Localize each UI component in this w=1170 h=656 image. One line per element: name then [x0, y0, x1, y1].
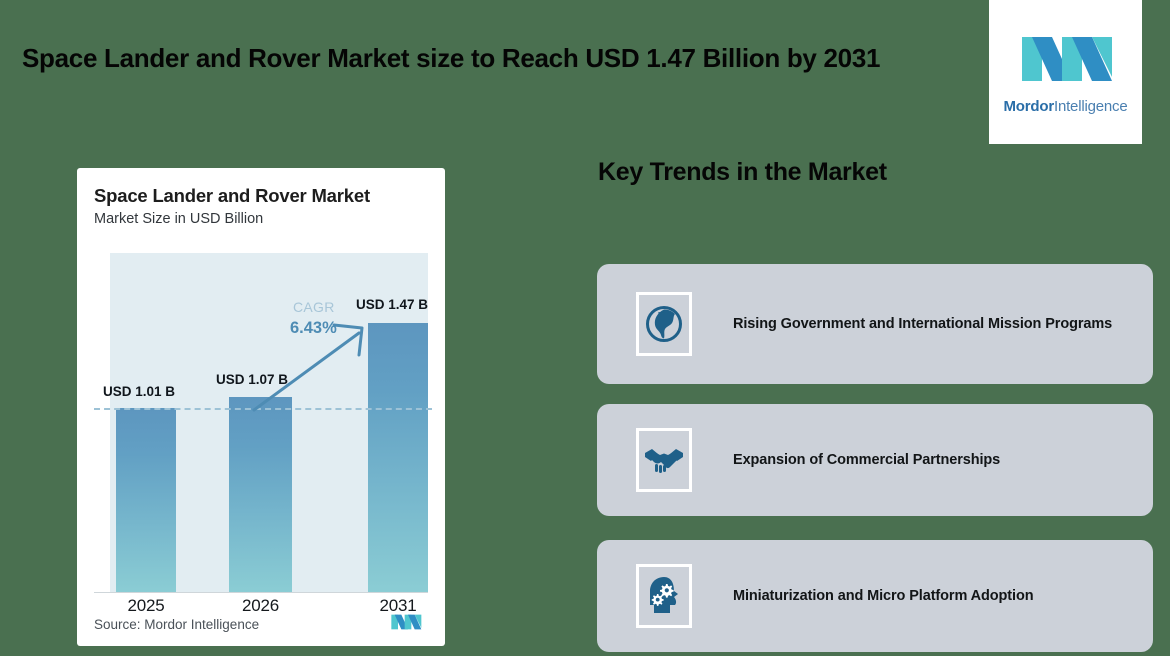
- trend-card-1[interactable]: Rising Government and International Miss…: [597, 264, 1153, 384]
- growth-arrow-icon: [94, 253, 428, 593]
- head-gears-icon: [636, 564, 692, 628]
- brand-logo-wordmark: MordorIntelligence: [1004, 98, 1128, 115]
- chart-plot-area: USD 1.01 B USD 1.07 B USD 1.47 B CAGR 6.…: [94, 253, 428, 593]
- brand-name-secondary: Intelligence: [1054, 98, 1128, 115]
- chart-subtitle: Market Size in USD Billion: [94, 211, 263, 227]
- x-tick-2025: 2025: [116, 596, 176, 616]
- brand-name-primary: Mordor: [1004, 98, 1054, 115]
- chart-card: Space Lander and Rover Market Market Siz…: [77, 168, 445, 646]
- mordor-m-logo-icon: [1020, 29, 1112, 89]
- x-tick-2026: 2026: [229, 596, 292, 616]
- brand-logo: MordorIntelligence: [989, 0, 1142, 144]
- chart-source: Source: Mordor Intelligence: [94, 617, 259, 632]
- trends-heading: Key Trends in the Market: [598, 158, 887, 187]
- globe-icon: [636, 292, 692, 356]
- trend-card-2[interactable]: Expansion of Commercial Partnerships: [597, 404, 1153, 516]
- trend-label-3: Miniaturization and Micro Platform Adopt…: [733, 588, 1033, 604]
- mordor-m-logo-small-icon: [389, 612, 423, 632]
- handshake-icon: [636, 428, 692, 492]
- page-headline: Space Lander and Rover Market size to Re…: [22, 41, 952, 76]
- chart-title: Space Lander and Rover Market: [94, 185, 370, 207]
- x-axis-line: [94, 592, 428, 594]
- trend-label-1: Rising Government and International Miss…: [733, 316, 1112, 332]
- trend-label-2: Expansion of Commercial Partnerships: [733, 452, 1000, 468]
- trend-card-3[interactable]: Miniaturization and Micro Platform Adopt…: [597, 540, 1153, 652]
